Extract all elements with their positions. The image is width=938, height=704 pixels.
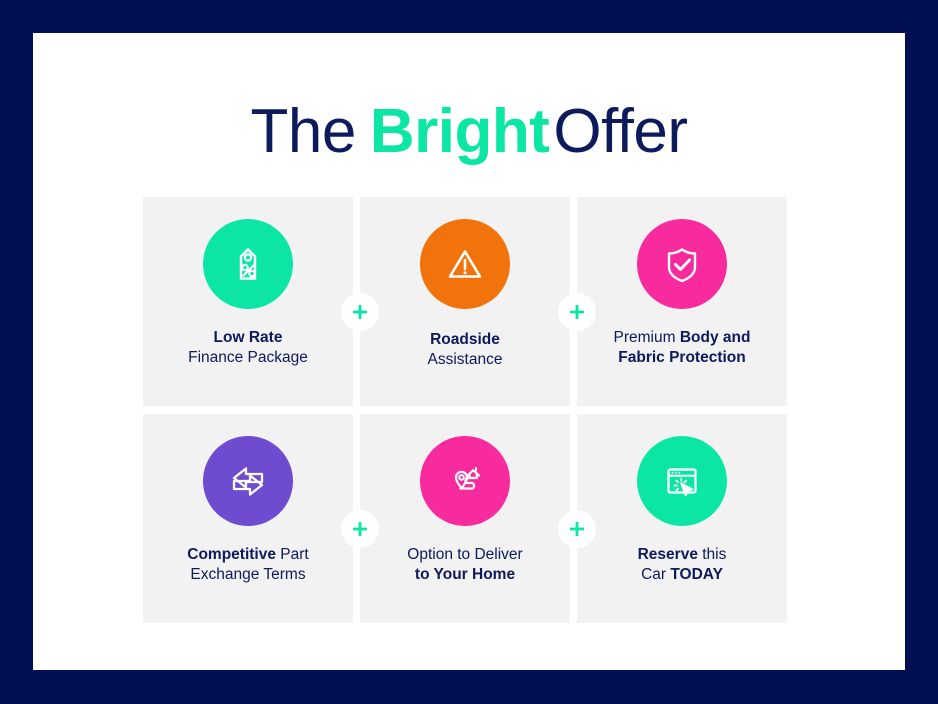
offer-row-1: Low Rate Finance Package — [143, 197, 788, 406]
card-label-line1-bold: Body and — [680, 329, 751, 346]
card-label-line1: Option to Deliver — [407, 546, 522, 563]
card-label-body-fabric: Premium Body and Fabric Protection — [582, 328, 782, 368]
offer-card-home-delivery[interactable]: Option to Deliver to Your Home — [360, 414, 570, 623]
card-label-line1: Premium — [614, 329, 680, 346]
title-part-the: The — [250, 97, 355, 166]
content-panel: TheBrightOffer — [33, 33, 905, 670]
card-label-line2: Finance Package — [188, 349, 308, 366]
offer-row-2: Competitive Part Exchange Terms — [143, 414, 788, 623]
title-part-bright: Bright — [370, 97, 550, 166]
plus-connector-4 — [558, 510, 596, 548]
slide-root: TheBrightOffer — [0, 0, 938, 704]
icon-circle-part-exchange — [203, 436, 293, 526]
plus-icon — [351, 520, 369, 538]
plus-icon — [568, 520, 586, 538]
card-label-line1-bold: Reserve — [638, 546, 698, 563]
card-label-line2: Car — [641, 566, 670, 583]
card-label-line2: Exchange Terms — [190, 566, 305, 583]
card-label-line1-bold: Low Rate — [214, 329, 283, 346]
icon-circle-body-fabric — [637, 219, 727, 309]
warning-triangle-icon — [439, 238, 491, 290]
browser-click-icon — [656, 455, 708, 507]
card-label-line1-after: Part — [276, 546, 309, 563]
offer-card-roadside[interactable]: Roadside Assistance — [360, 197, 570, 406]
price-tag-percent-icon — [222, 238, 274, 290]
card-label-reserve-today: Reserve this Car TODAY — [582, 545, 782, 585]
offer-card-low-rate[interactable]: Low Rate Finance Package — [143, 197, 353, 406]
icon-circle-low-rate — [203, 219, 293, 309]
plus-icon — [351, 303, 369, 321]
icon-circle-roadside — [420, 219, 510, 309]
plus-connector-3 — [341, 510, 379, 548]
plus-connector-1 — [341, 293, 379, 331]
offer-card-body-fabric[interactable]: Premium Body and Fabric Protection — [577, 197, 787, 406]
icon-circle-home-delivery — [420, 436, 510, 526]
card-label-part-exchange: Competitive Part Exchange Terms — [148, 545, 348, 585]
plus-connector-2 — [558, 293, 596, 331]
card-label-low-rate: Low Rate Finance Package — [148, 328, 348, 368]
title-part-offer: Offer — [553, 97, 687, 166]
page-title: TheBrightOffer — [33, 101, 905, 163]
shield-check-icon — [656, 238, 708, 290]
plus-icon — [568, 303, 586, 321]
card-label-roadside: Roadside Assistance — [365, 330, 565, 370]
card-label-line2-bold: TODAY — [670, 566, 723, 583]
card-label-line1-after: this — [698, 546, 726, 563]
card-label-line2-bold: Fabric Protection — [618, 349, 745, 366]
card-label-line2-bold: to Your Home — [415, 566, 515, 583]
offer-grid: Low Rate Finance Package — [143, 197, 788, 623]
offer-card-reserve-today[interactable]: Reserve this Car TODAY — [577, 414, 787, 623]
icon-circle-reserve-today — [637, 436, 727, 526]
card-label-line2: Assistance — [428, 351, 503, 368]
offer-card-part-exchange[interactable]: Competitive Part Exchange Terms — [143, 414, 353, 623]
card-label-home-delivery: Option to Deliver to Your Home — [365, 545, 565, 585]
exchange-arrows-icon — [222, 455, 274, 507]
home-delivery-pin-icon — [439, 455, 491, 507]
card-label-line1-bold: Competitive — [187, 546, 276, 563]
card-label-line1-bold: Roadside — [430, 331, 500, 348]
